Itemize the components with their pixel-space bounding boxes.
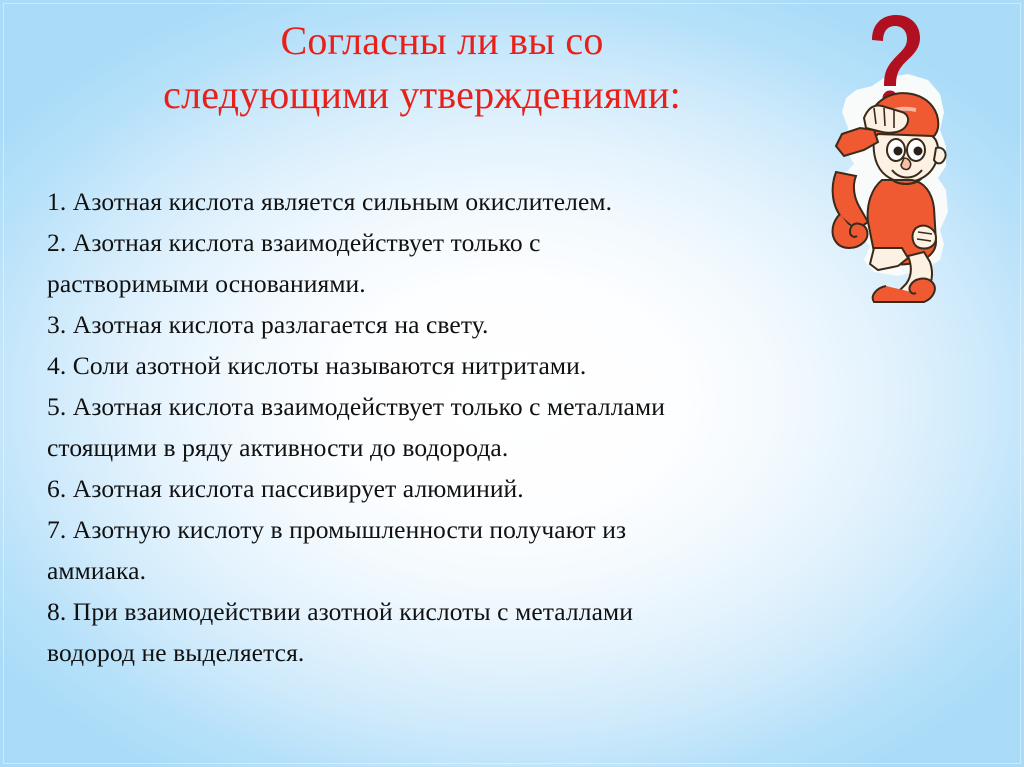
thinking-gnome-illustration	[812, 8, 980, 303]
statement-line-3: 3. Азотная кислота разлагается на свету.	[47, 304, 927, 345]
statement-line-4: 4. Соли азотной кислоты называются нитри…	[47, 345, 927, 386]
statement-line-5-cont: стоящими в ряду активности до водорода.	[47, 427, 927, 468]
statement-list: 1. Азотная кислота является сильным окис…	[47, 181, 927, 673]
page-title: Согласны ли вы со следующими утверждения…	[22, 14, 822, 122]
slide-canvas: Согласны ли вы со следующими утверждения…	[0, 0, 1024, 767]
statement-line-6: 6. Азотная кислота пассивирует алюминий.	[47, 468, 927, 509]
statement-line-7: 7. Азотную кислоту в промышленности полу…	[47, 509, 927, 550]
statement-line-1: 1. Азотная кислота является сильным окис…	[47, 181, 927, 222]
statement-line-8: 8. При взаимодействии азотной кислоты с …	[47, 591, 927, 632]
statement-line-8-cont: водород не выделяется.	[47, 632, 927, 673]
thinking-gnome-icon	[812, 8, 980, 303]
statement-line-5: 5. Азотная кислота взаимодействует тольк…	[47, 386, 927, 427]
title-line-1: Согласны ли вы со	[22, 14, 822, 68]
title-line-2: следующими утверждениями:	[22, 68, 822, 122]
statement-line-2-cont: растворимыми основаниями.	[47, 263, 927, 304]
statement-line-7-cont: аммиака.	[47, 550, 927, 591]
statement-line-2: 2. Азотная кислота взаимодействует тольк…	[47, 222, 927, 263]
